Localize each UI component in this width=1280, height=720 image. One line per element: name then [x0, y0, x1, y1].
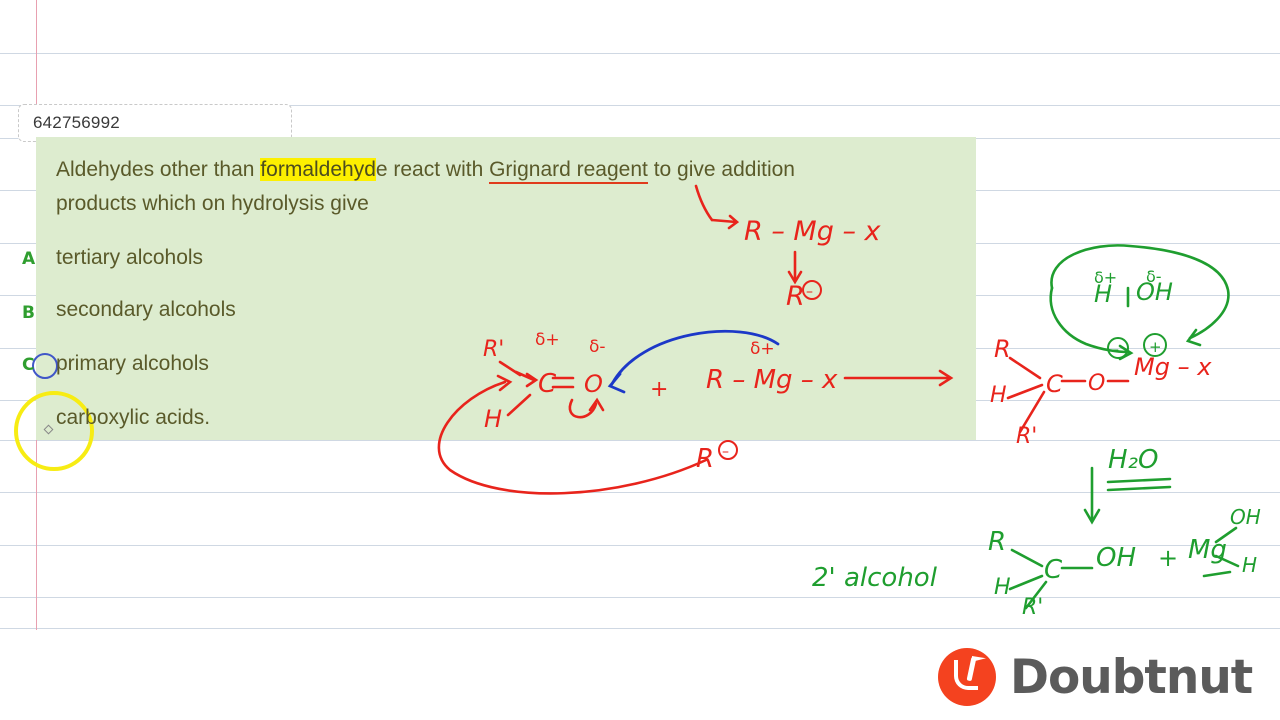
option-label-a: A: [22, 249, 35, 269]
option-label-c: C: [22, 355, 34, 375]
question-line1-part2: e react with: [376, 158, 489, 181]
option-label-b: B: [22, 303, 35, 323]
question-id-text: 642756992: [33, 113, 120, 133]
selected-option-circle: [32, 353, 58, 379]
flag-icon: [972, 656, 986, 666]
option-b[interactable]: secondary alcohols: [56, 298, 236, 322]
doubtnut-logo: Doubtnut: [938, 648, 1252, 706]
question-line2: products which on hydrolysis give: [56, 192, 369, 215]
question-text: Aldehydes other than formaldehyde react …: [56, 153, 1036, 221]
cursor-highlight-circle: [14, 391, 94, 471]
question-highlight-formaldehyde: formaldehyd: [260, 158, 376, 181]
option-d[interactable]: carboxylic acids.: [56, 406, 210, 430]
doubtnut-wordmark: Doubtnut: [1010, 650, 1252, 705]
question-line1-part3: to give addition: [648, 158, 795, 181]
question-line1-part1: Aldehydes other than: [56, 158, 260, 181]
doubtnut-mark-icon: [938, 648, 996, 706]
option-c[interactable]: primary alcohols: [56, 352, 209, 376]
option-a[interactable]: tertiary alcohols: [56, 246, 203, 270]
question-underline-grignard: Grignard reagent: [489, 158, 648, 184]
